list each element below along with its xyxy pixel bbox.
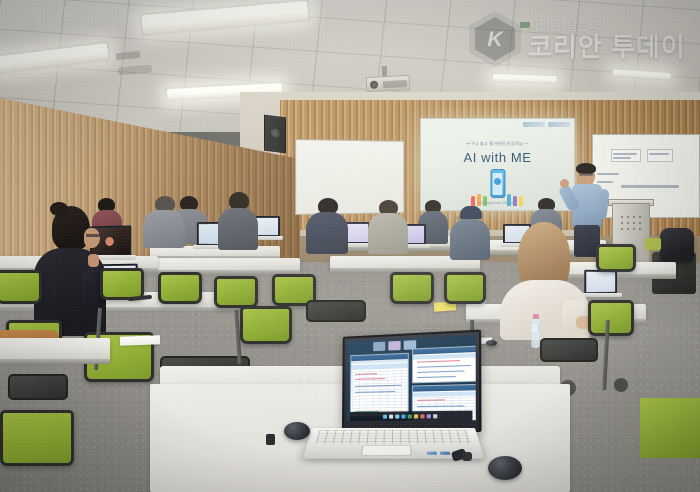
bottle-label [530, 322, 539, 334]
app-icon-3[interactable] [433, 414, 437, 418]
torso [143, 210, 185, 248]
watermark-badge-icon: K [469, 11, 521, 67]
lectern-speaker-grill [619, 214, 645, 230]
chair-seat-dark-3 [540, 338, 598, 362]
chair-mid-1 [214, 276, 258, 308]
edge-icon[interactable] [401, 414, 405, 418]
watermark-badge-letter: K [487, 29, 502, 50]
excel-icon[interactable] [407, 414, 411, 418]
chair-seat-dark-2 [8, 374, 68, 400]
chair-left-4 [158, 272, 202, 304]
wall-speaker [264, 115, 286, 154]
windows-taskbar[interactable] [350, 411, 473, 421]
chair-left-front [0, 410, 74, 466]
watermark-brand: 코리안 투데이 [528, 34, 686, 61]
backpack-strap-accent [645, 238, 661, 250]
window-header-band [413, 391, 476, 396]
torso [368, 213, 408, 254]
chair-right-2 [596, 244, 636, 272]
doc-text-1 [417, 360, 460, 363]
arm [82, 268, 102, 308]
bottle-cap [533, 314, 539, 319]
glasses-icon [86, 234, 100, 237]
chair-seat-dark-4 [306, 300, 366, 322]
whiteboard-scribble-3 [649, 153, 669, 155]
desk-caster-2 [614, 378, 628, 392]
slide-logo-2-icon [548, 122, 570, 127]
attendee-mid-4 [368, 200, 408, 254]
slide-title: AI with ME [421, 150, 574, 165]
speaker-cone-icon [270, 126, 281, 138]
torso [306, 212, 348, 254]
start-icon[interactable] [382, 414, 386, 418]
remote-right [486, 340, 497, 346]
chair-mid-front [240, 306, 292, 344]
foreground-laptop-lid [342, 330, 482, 432]
paper-left-front [120, 335, 160, 345]
desk-edge [0, 359, 110, 364]
search-icon[interactable] [389, 414, 393, 418]
attendee-mid-gray [143, 196, 185, 248]
chair-mid-3 [390, 272, 434, 304]
ceiling-projector [366, 75, 411, 92]
desk-mid-left [140, 258, 300, 271]
watermark-text: 사람을 담는다 코리안 투데이 [528, 17, 686, 61]
chair-right-edge [640, 398, 700, 458]
laptop-screen-content [586, 272, 615, 292]
taskbar-thumbnail-1 [373, 342, 385, 352]
chair-mid-4 [444, 272, 486, 304]
attendee-cap [450, 206, 490, 260]
projector-vent [383, 80, 407, 88]
slide-logo-row [523, 122, 570, 127]
taskbar-thumbnail-3 [404, 340, 417, 350]
slide-logo-1-icon [523, 122, 545, 127]
doc-text-4 [417, 376, 456, 379]
window-left-table[interactable] [350, 353, 409, 417]
keyboard-keys[interactable] [316, 430, 472, 444]
brand-sticker-1 [427, 452, 437, 455]
hand [88, 254, 99, 267]
whiteboard-note-box-1 [611, 149, 641, 162]
explorer-icon[interactable] [395, 414, 399, 418]
desk-front-left [0, 338, 110, 360]
chair-right-1 [588, 300, 634, 336]
attendee-mid-2 [218, 192, 258, 250]
slide-subtitle: 누구나 쉽고 즐거워진 인공지능 — [421, 141, 574, 147]
whiteboard-note-box-2 [647, 149, 673, 162]
window-header-band [351, 363, 408, 370]
brand-sticker-2 [440, 452, 450, 455]
round-device-right[interactable] [488, 456, 522, 480]
doc-text-2 [417, 365, 471, 368]
window-top-right-document[interactable] [412, 346, 476, 384]
instructor-glasses-icon [579, 173, 593, 176]
smartphone-ai-dot-icon [494, 178, 501, 185]
small-usb-device [266, 434, 275, 445]
whiteboard-scribble-2 [613, 157, 631, 159]
projector-lens-icon [370, 81, 378, 89]
black-backpack [660, 228, 694, 262]
app-icon-1[interactable] [420, 414, 424, 418]
folder-icon[interactable] [413, 414, 417, 418]
hair-bun [50, 202, 68, 216]
earbud-right [462, 452, 472, 461]
instructor-hand [560, 179, 569, 188]
light-panel-5 [493, 74, 557, 83]
attendee-mid-3 [306, 198, 348, 254]
instructor-arm-right [596, 189, 609, 220]
whiteboard-scribble-1 [613, 153, 637, 155]
foreground-laptop-desktop [347, 335, 476, 421]
doc-text-3 [417, 370, 464, 373]
taskbar-thumbnail-2 [388, 341, 400, 351]
korean-today-watermark: K 사람을 담는다 코리안 투데이 [469, 8, 694, 70]
attendee-right-blonde [500, 222, 590, 340]
app-icon-2[interactable] [426, 414, 430, 418]
chair-left-1 [0, 270, 42, 304]
whiteboard-equation [621, 185, 679, 188]
foreground-laptop[interactable] [300, 336, 480, 486]
torso [218, 208, 258, 250]
torso [450, 219, 490, 260]
round-device-left[interactable] [284, 422, 310, 440]
classroom-photo: 누구나 쉽고 즐거워진 인공지능 — AI with ME AI Program… [0, 0, 700, 492]
face [84, 228, 100, 248]
trackpad[interactable] [361, 446, 412, 456]
